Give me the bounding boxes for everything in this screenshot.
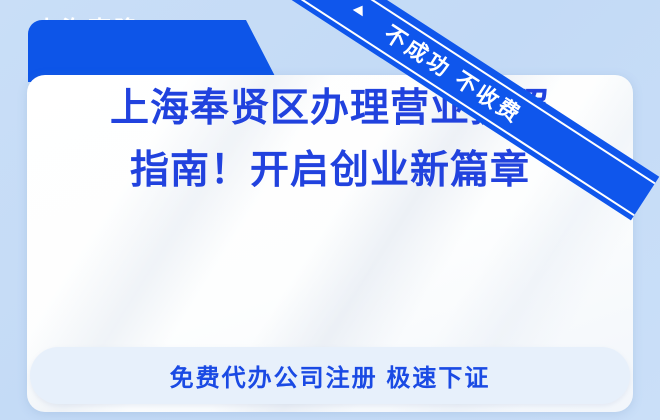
promo-poster: 上海壹隆 上海奉贤区办理营业执照 指南！开启创业新篇章 免费代办公司注册 极速下… [0,0,660,420]
triangle-up-icon [353,2,368,16]
brand-tab [28,20,278,82]
footer-pill-label: 免费代办公司注册 极速下证 [170,358,491,393]
footer-pill[interactable]: 免费代办公司注册 极速下证 [30,347,630,404]
